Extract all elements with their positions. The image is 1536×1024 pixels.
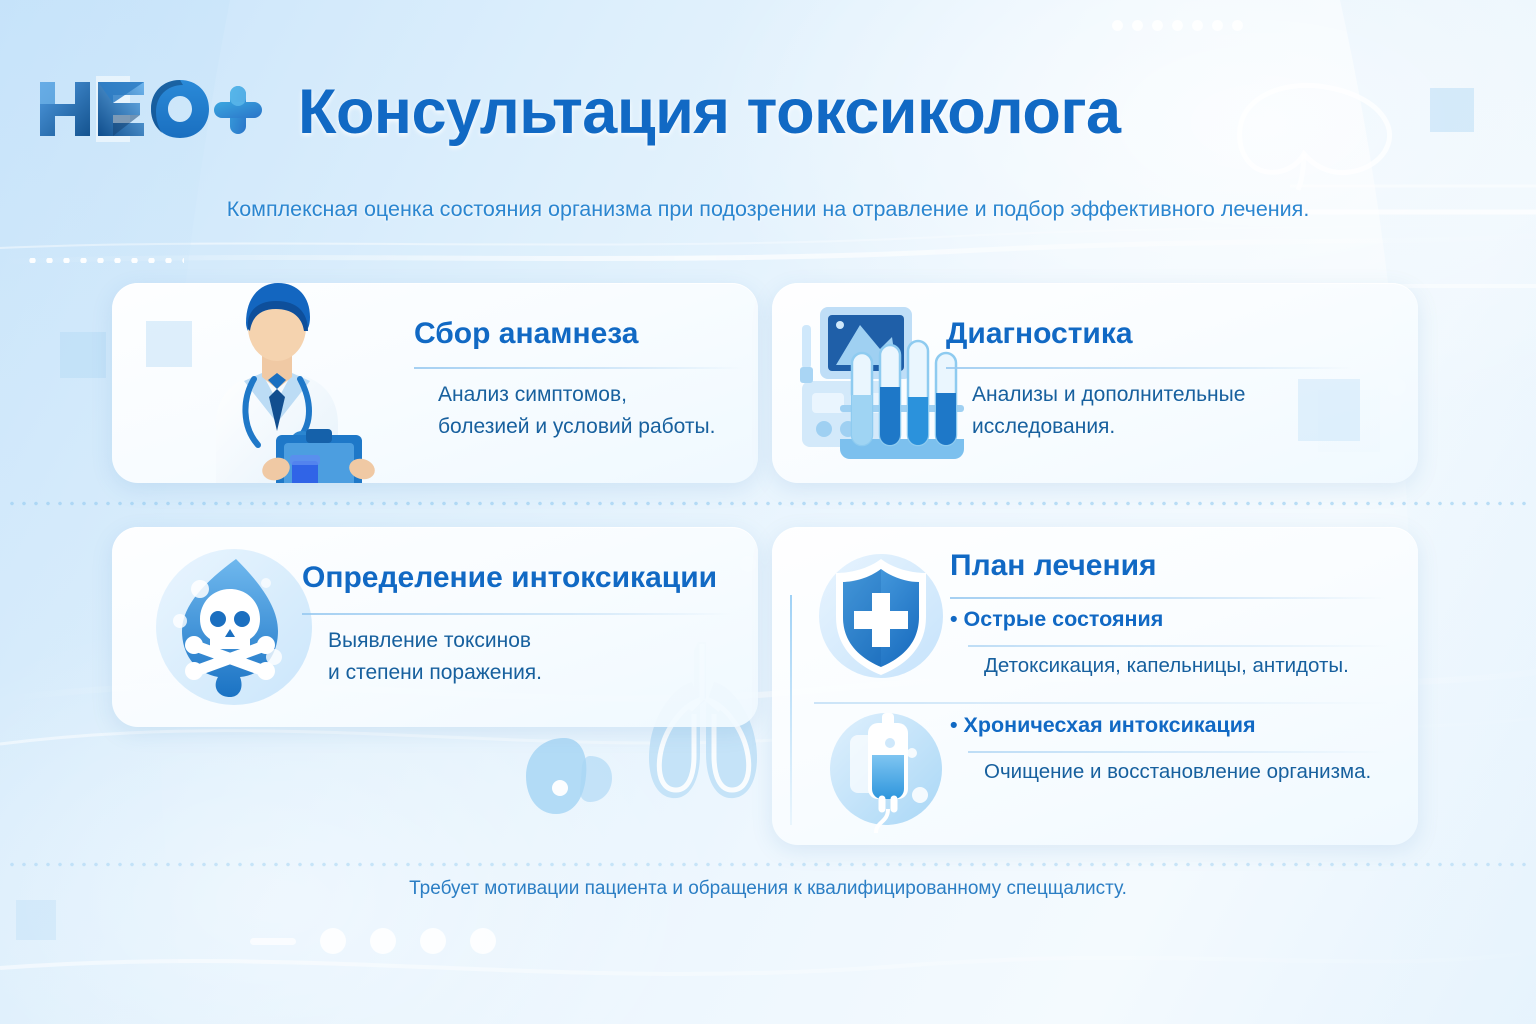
treatment-item-2-label: • Хроничесхая интоксикация bbox=[950, 713, 1256, 738]
skull-crossbones-poison-icon bbox=[148, 545, 328, 715]
treatment-item-1-desc: Детоксикация, капельницы, антидоты. bbox=[984, 654, 1349, 678]
footer-note: Требует мотивации пациента и обращения к… bbox=[0, 878, 1536, 900]
card-rule-treatment-plan bbox=[950, 597, 1388, 599]
card-body-line2: и степени поражения. bbox=[328, 657, 728, 689]
card-anamnesis[interactable]: Сбор анамнеза Анализ симптомов, болезией… bbox=[112, 283, 758, 483]
treatment-plan-accent-line bbox=[790, 595, 792, 825]
card-diagnostics[interactable]: Диагностика Анализы и дополнительные исс… bbox=[772, 283, 1418, 483]
card-rule-diagnostics bbox=[946, 367, 1352, 369]
treatment-item-1-text: Острые состояния bbox=[964, 607, 1164, 631]
card-rule-item2 bbox=[968, 751, 1388, 753]
iv-drip-bag-icon bbox=[828, 709, 944, 833]
page-title: Консультация токсиколога bbox=[298, 76, 1121, 148]
bullet-icon: • bbox=[950, 713, 958, 737]
card-body-anamnesis: Анализ симптомов, болезией и условий раб… bbox=[438, 379, 748, 443]
treatment-item-2-text: Хроничесхая интоксикация bbox=[964, 713, 1256, 737]
card-title-intoxication: Определение интоксикации bbox=[302, 561, 717, 595]
card-treatment-plan[interactable]: План лечения • Острые состояния Детоксик… bbox=[772, 527, 1418, 845]
infographic-canvas: Консультация токсиколога Комплексная оце… bbox=[0, 0, 1536, 1024]
card-divider-items bbox=[814, 702, 1388, 704]
card-rule-intoxication bbox=[302, 613, 732, 615]
header: Консультация токсиколога bbox=[0, 0, 1536, 185]
card-title-diagnostics: Диагностика bbox=[946, 317, 1133, 351]
treatment-item-1-label: • Острые состояния bbox=[950, 607, 1163, 632]
card-title-treatment-plan: План лечения bbox=[950, 549, 1157, 583]
card-body-line1: Анализ симптомов, bbox=[438, 379, 748, 411]
card-body-intoxication: Выявление токсинов и степени поражения. bbox=[328, 625, 728, 689]
card-rule-item1 bbox=[968, 645, 1388, 647]
page-subtitle: Комплексная оценка состояния организма п… bbox=[0, 197, 1536, 222]
treatment-item-2-desc: Очищение и восстановление организма. bbox=[984, 760, 1371, 784]
card-rule-anamnesis bbox=[414, 367, 744, 369]
neo-plus-logo bbox=[34, 74, 274, 144]
card-intoxication[interactable]: Определение интоксикации Выявление токси… bbox=[112, 527, 758, 727]
card-body-line2: болезией и условий работы. bbox=[438, 411, 748, 443]
card-body-line1: Анализы и дополнительные bbox=[972, 379, 1372, 411]
shield-cross-icon bbox=[814, 549, 948, 683]
card-body-line1: Выявление токсинов bbox=[328, 625, 728, 657]
card-title-anamnesis: Сбор анамнеза bbox=[414, 317, 638, 351]
doctor-with-clipboard-icon bbox=[172, 283, 380, 483]
card-body-line2: исследования. bbox=[972, 411, 1372, 443]
card-body-diagnostics: Анализы и дополнительные исследования. bbox=[972, 379, 1372, 443]
bullet-icon: • bbox=[950, 607, 958, 631]
